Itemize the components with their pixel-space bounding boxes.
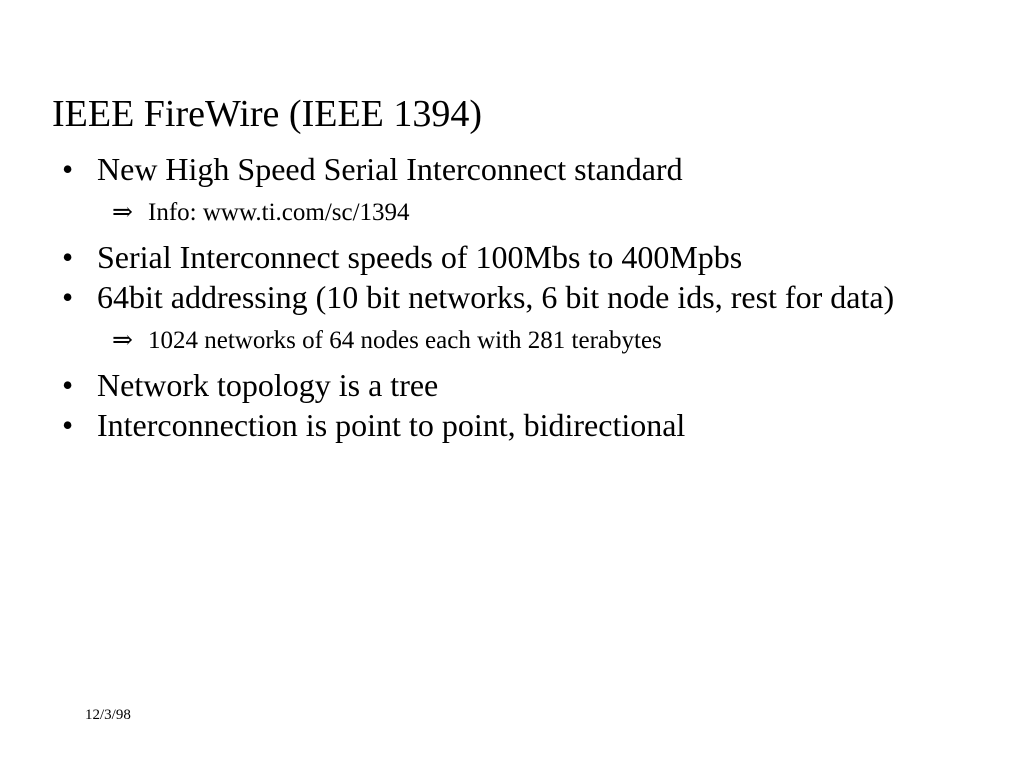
sub-bullet-text: 1024 networks of 64 nodes each with 281 …	[148, 325, 964, 356]
bullet-text: 64bit addressing (10 bit networks, 6 bit…	[97, 278, 964, 317]
slide-title: IEEE FireWire (IEEE 1394)	[52, 91, 482, 137]
bullet-marker-icon: •	[62, 366, 73, 405]
sub-bullet-text: Info: www.ti.com/sc/1394	[148, 197, 964, 228]
sub-bullet-item: ⇒ Info: www.ti.com/sc/1394	[0, 197, 1024, 228]
bullet-item: • Interconnection is point to point, bid…	[0, 406, 1024, 445]
bullet-item: • 64bit addressing (10 bit networks, 6 b…	[0, 278, 1024, 317]
bullet-text: Serial Interconnect speeds of 100Mbs to …	[97, 238, 964, 277]
presentation-slide: IEEE FireWire (IEEE 1394) • New High Spe…	[0, 0, 1024, 768]
bullet-text: Network topology is a tree	[97, 366, 964, 405]
bullet-marker-icon: •	[62, 150, 73, 189]
bullet-text: New High Speed Serial Interconnect stand…	[97, 150, 964, 189]
double-arrow-icon: ⇒	[112, 197, 133, 228]
bullet-text: Interconnection is point to point, bidir…	[97, 406, 964, 445]
bullet-marker-icon: •	[62, 278, 73, 317]
slide-date-footer: 12/3/98	[85, 706, 131, 724]
double-arrow-icon: ⇒	[112, 325, 133, 356]
bullet-item: • Network topology is a tree	[0, 366, 1024, 405]
bullet-marker-icon: •	[62, 238, 73, 277]
bullet-marker-icon: •	[62, 406, 73, 445]
bullet-item: • Serial Interconnect speeds of 100Mbs t…	[0, 238, 1024, 277]
slide-body: • New High Speed Serial Interconnect sta…	[0, 150, 1024, 446]
bullet-item: • New High Speed Serial Interconnect sta…	[0, 150, 1024, 189]
sub-bullet-item: ⇒ 1024 networks of 64 nodes each with 28…	[0, 325, 1024, 356]
